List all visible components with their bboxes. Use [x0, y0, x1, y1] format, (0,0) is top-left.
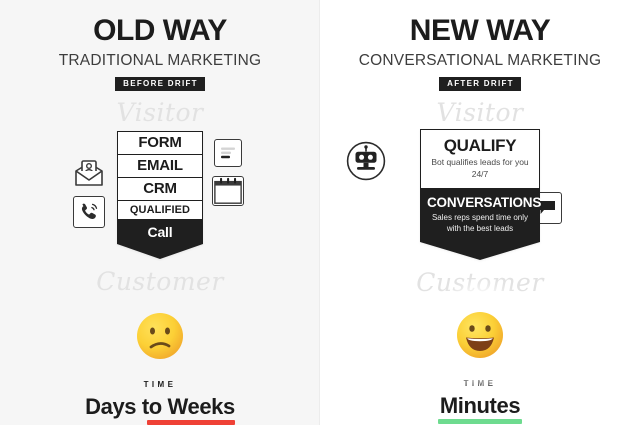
label-customer-right: Customer — [416, 270, 544, 295]
funnel-block-qualify-title: QUALIFY — [427, 137, 533, 155]
funnel-tip-right — [420, 242, 540, 260]
panel-divider — [319, 0, 320, 425]
funnel-row-email: EMAIL — [118, 155, 202, 178]
time-value-left: Days to Weeks — [85, 396, 235, 418]
robot-bot-icon — [346, 141, 386, 181]
funnel-block-conversations-subtitle: Sales reps spend time only with the best… — [427, 213, 533, 234]
label-visitor-right: Visitor — [437, 100, 524, 125]
funnel-block-qualify-subtitle: Bot qualifies leads for you 24/7 — [427, 157, 533, 179]
panel-old-way: OLD WAY TRADITIONAL MARKETING BEFORE DRI… — [0, 0, 320, 425]
time-label-right: TIME — [464, 379, 497, 388]
underline-wrap-right — [438, 417, 522, 424]
funnel-new-way: QUALIFY Bot qualifies leads for you 24/7… — [420, 129, 540, 261]
time-block-old-way: TIME Days to Weeks — [85, 380, 235, 425]
label-customer-left: Customer — [96, 269, 224, 294]
funnel-row-form: FORM — [118, 132, 202, 155]
time-block-new-way: TIME Minutes — [438, 379, 522, 424]
accent-underline-green — [438, 419, 522, 424]
panel-new-way: NEW WAY CONVERSATIONAL MARKETING AFTER D… — [320, 0, 640, 425]
time-label-left: TIME — [144, 380, 177, 389]
funnel-zone-new-way: QUALIFY Bot qualifies leads for you 24/7… — [320, 129, 640, 261]
funnel-zone-old-way: FORM EMAIL CRM QUALIFIED Call — [0, 131, 320, 259]
page-title-old-way: OLD WAY — [93, 16, 227, 46]
page-title-new-way: NEW WAY — [410, 16, 550, 46]
ringing-phone-icon — [73, 196, 105, 228]
emoji-grinning-face — [455, 305, 505, 365]
comparison-infographic: OLD WAY TRADITIONAL MARKETING BEFORE DRI… — [0, 0, 640, 425]
funnel-tip-left — [117, 244, 203, 259]
subtitle-new-way: CONVERSATIONAL MARKETING — [359, 53, 602, 69]
funnel-body: QUALIFY Bot qualifies leads for you 24/7… — [420, 129, 540, 243]
funnel-block-qualify: QUALIFY Bot qualifies leads for you 24/7 — [421, 130, 539, 189]
funnel-body: FORM EMAIL CRM QUALIFIED Call — [117, 131, 203, 244]
accent-underline-red — [147, 420, 235, 425]
label-visitor-left: Visitor — [117, 100, 204, 125]
calendar-icon — [212, 176, 244, 206]
funnel-row-crm: CRM — [118, 178, 202, 201]
funnel-old-way: FORM EMAIL CRM QUALIFIED Call — [117, 131, 203, 259]
funnel-row-call: Call — [118, 220, 202, 244]
funnel-block-conversations-title: CONVERSATIONS — [427, 196, 533, 210]
envelope-contact-icon — [72, 159, 106, 189]
emoji-slightly-frowning-face — [135, 308, 185, 364]
subtitle-old-way: TRADITIONAL MARKETING — [59, 53, 262, 69]
time-value-right: Minutes — [440, 395, 520, 417]
status-badge-after-drift: AFTER DRIFT — [439, 77, 521, 91]
form-document-icon — [214, 139, 242, 167]
status-badge-before-drift: BEFORE DRIFT — [115, 77, 205, 91]
funnel-row-qualified: QUALIFIED — [118, 201, 202, 220]
underline-wrap-left — [85, 418, 235, 425]
funnel-block-conversations: CONVERSATIONS Sales reps spend time only… — [421, 189, 539, 242]
